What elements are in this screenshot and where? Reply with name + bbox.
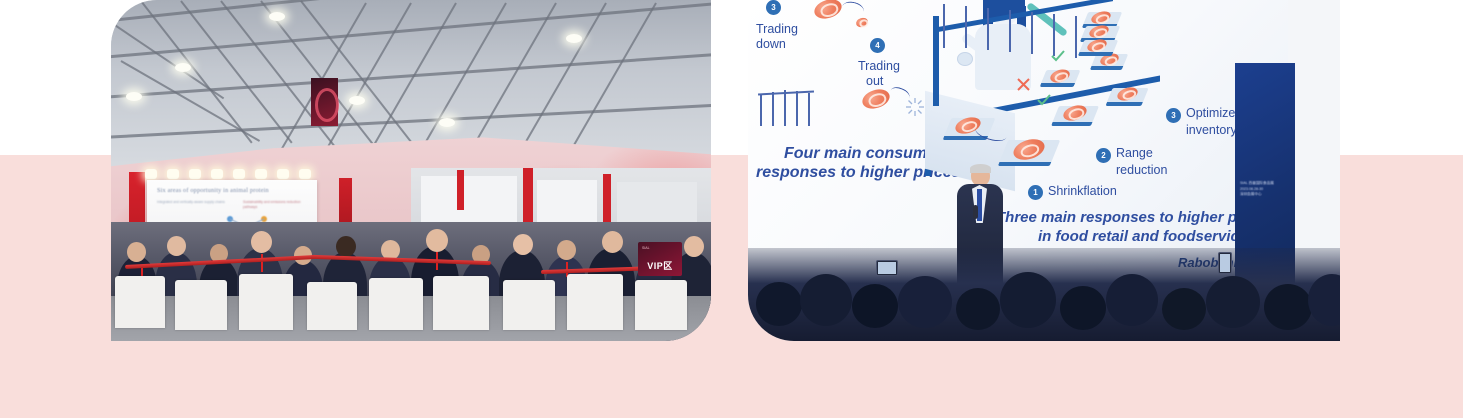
check-icon	[1051, 50, 1065, 62]
retail-response-1-badge: 1	[1028, 185, 1043, 200]
presentation-slide: 3 Trading down 4 Trading out Four main c…	[748, 0, 1288, 288]
retail-response-3-label-line1: Optimize	[1186, 106, 1235, 120]
check-icon	[1037, 94, 1051, 106]
microphone-icon	[973, 205, 978, 219]
audience-chair	[567, 274, 623, 330]
meat-icon	[812, 0, 844, 22]
stacked-trays-icon	[1081, 12, 1127, 68]
consumer-response-3-label-line2: down	[756, 37, 786, 51]
vip-badge-label: VIP区	[638, 259, 682, 272]
consumer-response-4-label-line2: out	[866, 74, 883, 88]
screen-title: Six areas of opportunity in animal prote…	[157, 187, 309, 194]
retail-response-1-label-line1: Shrinkflation	[1048, 184, 1117, 198]
phone-held-up	[876, 260, 898, 276]
stage-light-bar	[145, 169, 321, 179]
audience-chair	[369, 278, 423, 330]
sparkle-icon	[906, 98, 924, 116]
audience-chair	[433, 276, 489, 330]
screen-column-left: Integrated and vertically-aware supply c…	[157, 200, 225, 205]
ceiling-light	[566, 34, 582, 43]
cross-icon	[1017, 78, 1030, 91]
vip-badge-sign: SIAL VIP区	[638, 242, 682, 276]
phone-held-up	[1218, 252, 1232, 274]
consumer-response-3-label-line1: Trading	[756, 22, 798, 36]
retail-response-2-badge: 2	[1096, 148, 1111, 163]
speaker-slide-photo: 3 Trading down 4 Trading out Four main c…	[748, 0, 1340, 341]
consumer-response-4-badge: 4	[870, 38, 885, 53]
audience-chair	[115, 276, 165, 328]
retail-response-3-label-line2: inventory	[1186, 123, 1237, 137]
sial-banner-line-3: 深圳会展中心	[1240, 192, 1291, 198]
conference-audience-photo: Six areas of opportunity in animal prote…	[111, 0, 711, 341]
fence-graphic	[758, 88, 828, 126]
speaker-hair	[970, 164, 991, 173]
consumer-response-4-label-line1: Trading	[858, 59, 900, 73]
retail-response-2-label-line2: reduction	[1116, 163, 1167, 177]
audience-chair	[239, 274, 293, 330]
sial-side-banner-text: SIAL 西普国际食品展 2023.08.28-30 深圳会展中心	[1240, 181, 1291, 198]
ceiling-light	[175, 63, 191, 72]
vip-badge-brand: SIAL	[642, 246, 650, 250]
retail-response-3-badge: 3	[1166, 108, 1181, 123]
retail-caption-line1: Three main responses to higher prices	[996, 208, 1272, 228]
consumer-response-3-badge: 3	[766, 0, 781, 15]
retail-response-2-label-line1: Range	[1116, 146, 1153, 160]
screen-column-right: Sustainability and emissions reduction p…	[243, 200, 309, 210]
audience-chair	[503, 280, 555, 330]
ceiling-light	[269, 12, 285, 21]
arrow-icon	[841, 0, 866, 18]
audience-chair	[635, 280, 687, 330]
hanging-banner	[311, 78, 338, 126]
audience-chair	[175, 280, 227, 330]
ceiling-light	[439, 118, 455, 127]
ceiling-light	[126, 92, 142, 101]
meat-icon-small	[855, 16, 869, 28]
audience-chair	[307, 282, 357, 330]
ceiling-light	[349, 96, 365, 105]
retail-caption-line2: in food retail and foodservice	[1038, 227, 1247, 247]
meat-icon	[860, 86, 892, 112]
front-row-crowd: SIAL	[748, 248, 1340, 341]
